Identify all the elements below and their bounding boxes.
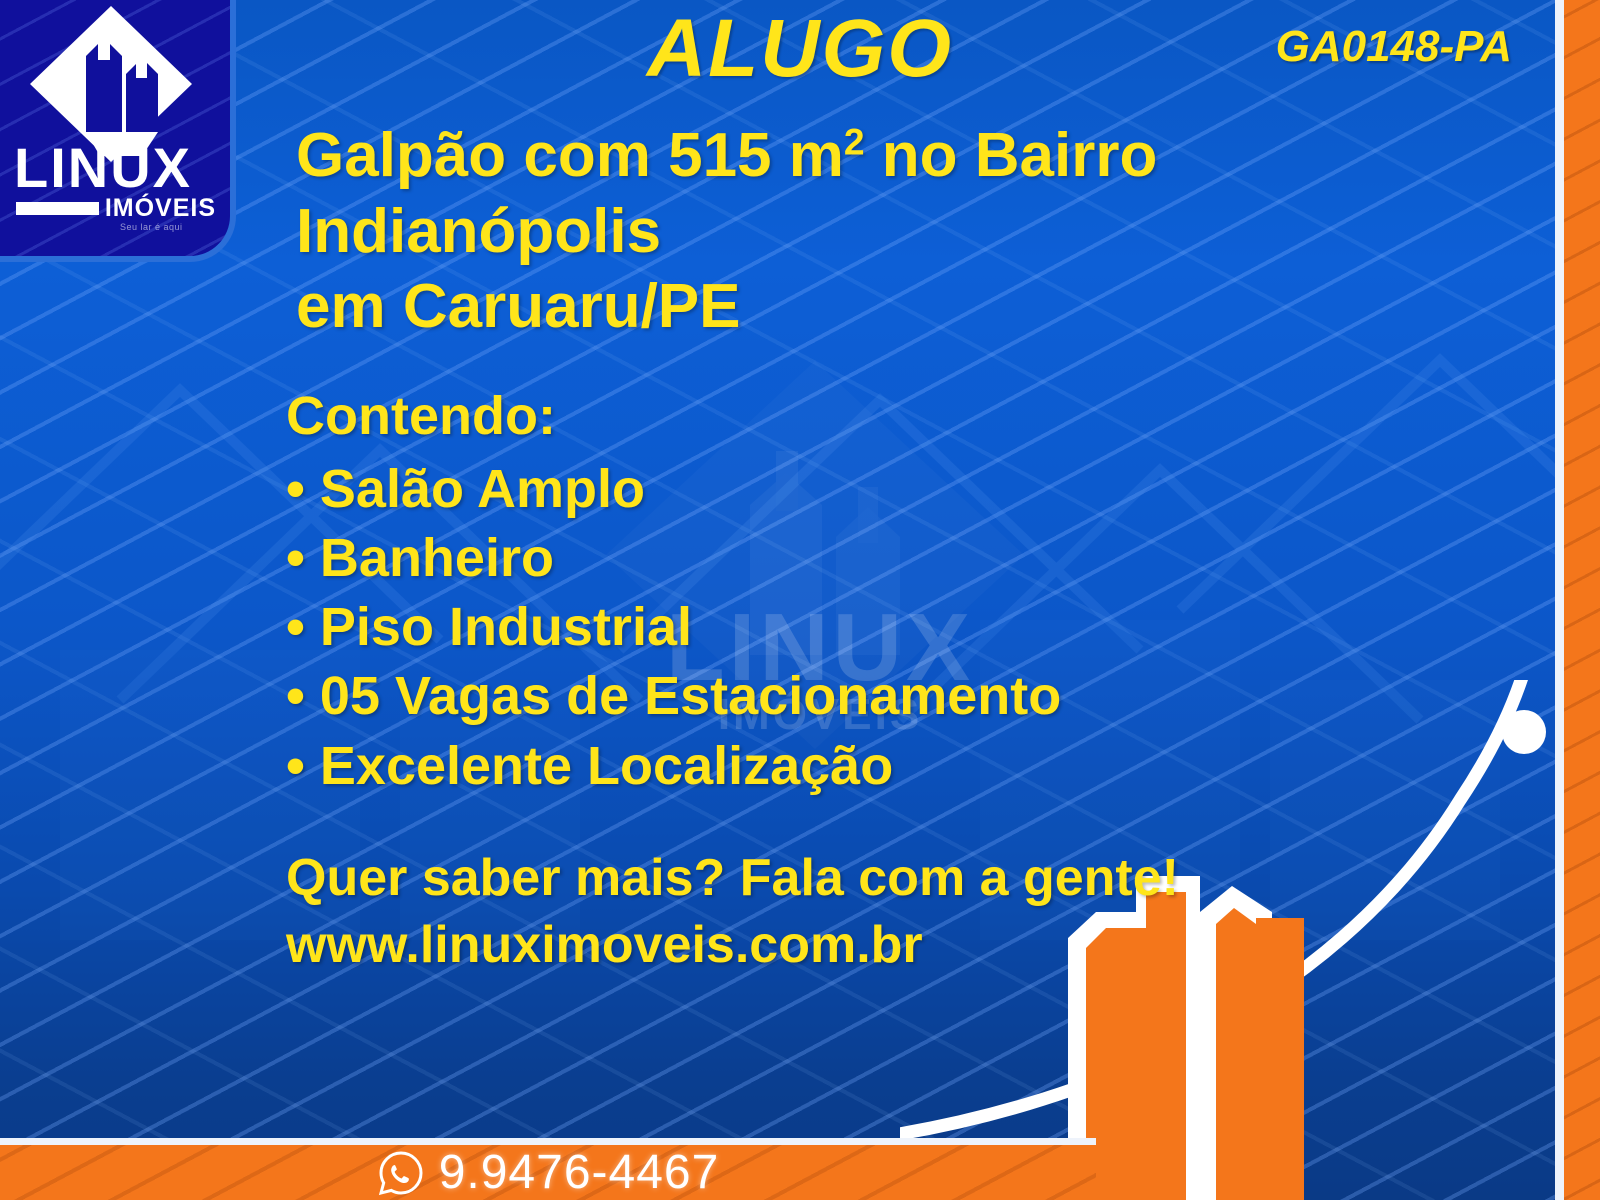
feature-item: • 05 Vagas de Estacionamento [286, 662, 1366, 731]
features-lead-label: Contendo: [286, 382, 1366, 451]
page-title: Galpão com 515 m2 no Bairro Indianópolis… [296, 118, 1526, 345]
feature-item: • Banheiro [286, 524, 1366, 593]
logo-subtitle: IMÓVEIS [105, 196, 216, 221]
feature-item: • Excelente Localização [286, 732, 1366, 801]
feature-item: • Salão Amplo [286, 455, 1366, 524]
advertisement-poster: LINUX IMÓVEIS LINUX IMÓVEIS Seu [0, 0, 1600, 1200]
headline-line-2: em Caruaru/PE [296, 269, 1526, 345]
contact-bar[interactable]: 9.9476-4467 [0, 1138, 1096, 1200]
whatsapp-icon[interactable] [377, 1149, 425, 1197]
logo-rule [16, 202, 99, 215]
phone-number[interactable]: 9.9476-4467 [439, 1149, 720, 1197]
edge-strip-divider [1555, 0, 1564, 1200]
cta-question: Quer saber mais? Fala com a gente! [286, 845, 1386, 912]
logo-tagline: Seu lar é aqui [120, 222, 183, 232]
features-list: Contendo: • Salão Amplo • Banheiro • Pis… [286, 382, 1366, 801]
logo-subtitle-row: IMÓVEIS [16, 196, 216, 221]
feature-item: • Piso Industrial [286, 593, 1366, 662]
headline-superscript: 2 [844, 120, 865, 162]
reference-code: GA0148-PA [1276, 22, 1512, 72]
website-link[interactable]: www.linuximoveis.com.br [286, 912, 1386, 979]
logo-wordmark: LINUX [14, 140, 220, 196]
headline-part-1: Galpão com 515 m [296, 121, 844, 190]
right-orange-edge-strip [1564, 0, 1600, 1200]
call-to-action: Quer saber mais? Fala com a gente! www.l… [286, 845, 1386, 978]
